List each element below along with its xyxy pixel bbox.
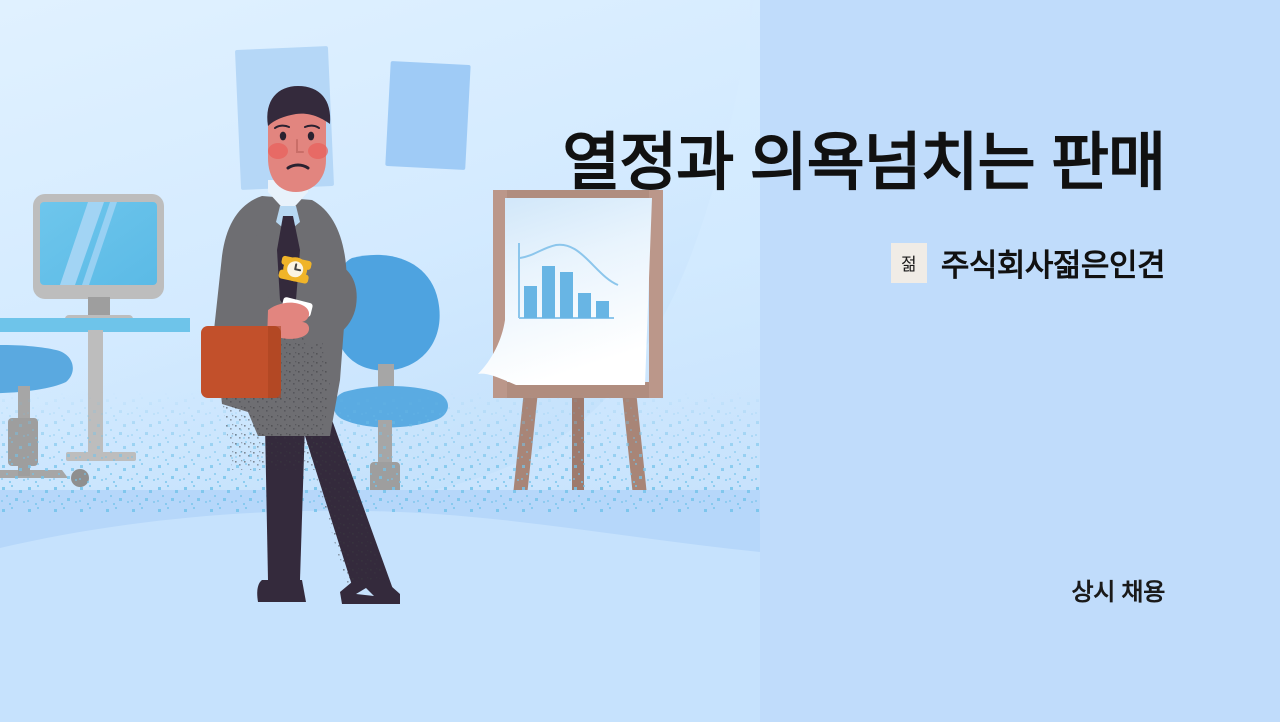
hiring-type-label: 상시 채용 <box>1072 572 1166 607</box>
headline: 열정과 의욕넘치는 판매 <box>425 128 1165 199</box>
floor-speckle-texture <box>0 392 760 512</box>
company-logo-badge: 젊 <box>891 243 927 283</box>
eye-right <box>308 132 314 141</box>
cheek-right <box>308 143 328 159</box>
floor-highlight <box>0 511 760 722</box>
shoe-left <box>257 580 306 602</box>
company-row[interactable]: 젊 주식회사젊은인견 <box>891 240 1165 285</box>
recruitment-banner: 열정과 의욕넘치는 판매 젊 주식회사젊은인견 상시 채용 <box>0 0 1280 722</box>
eye-left <box>280 132 286 141</box>
office-illustration <box>0 0 760 722</box>
company-name: 주식회사젊은인견 <box>941 240 1165 285</box>
cheek-left <box>268 143 288 159</box>
